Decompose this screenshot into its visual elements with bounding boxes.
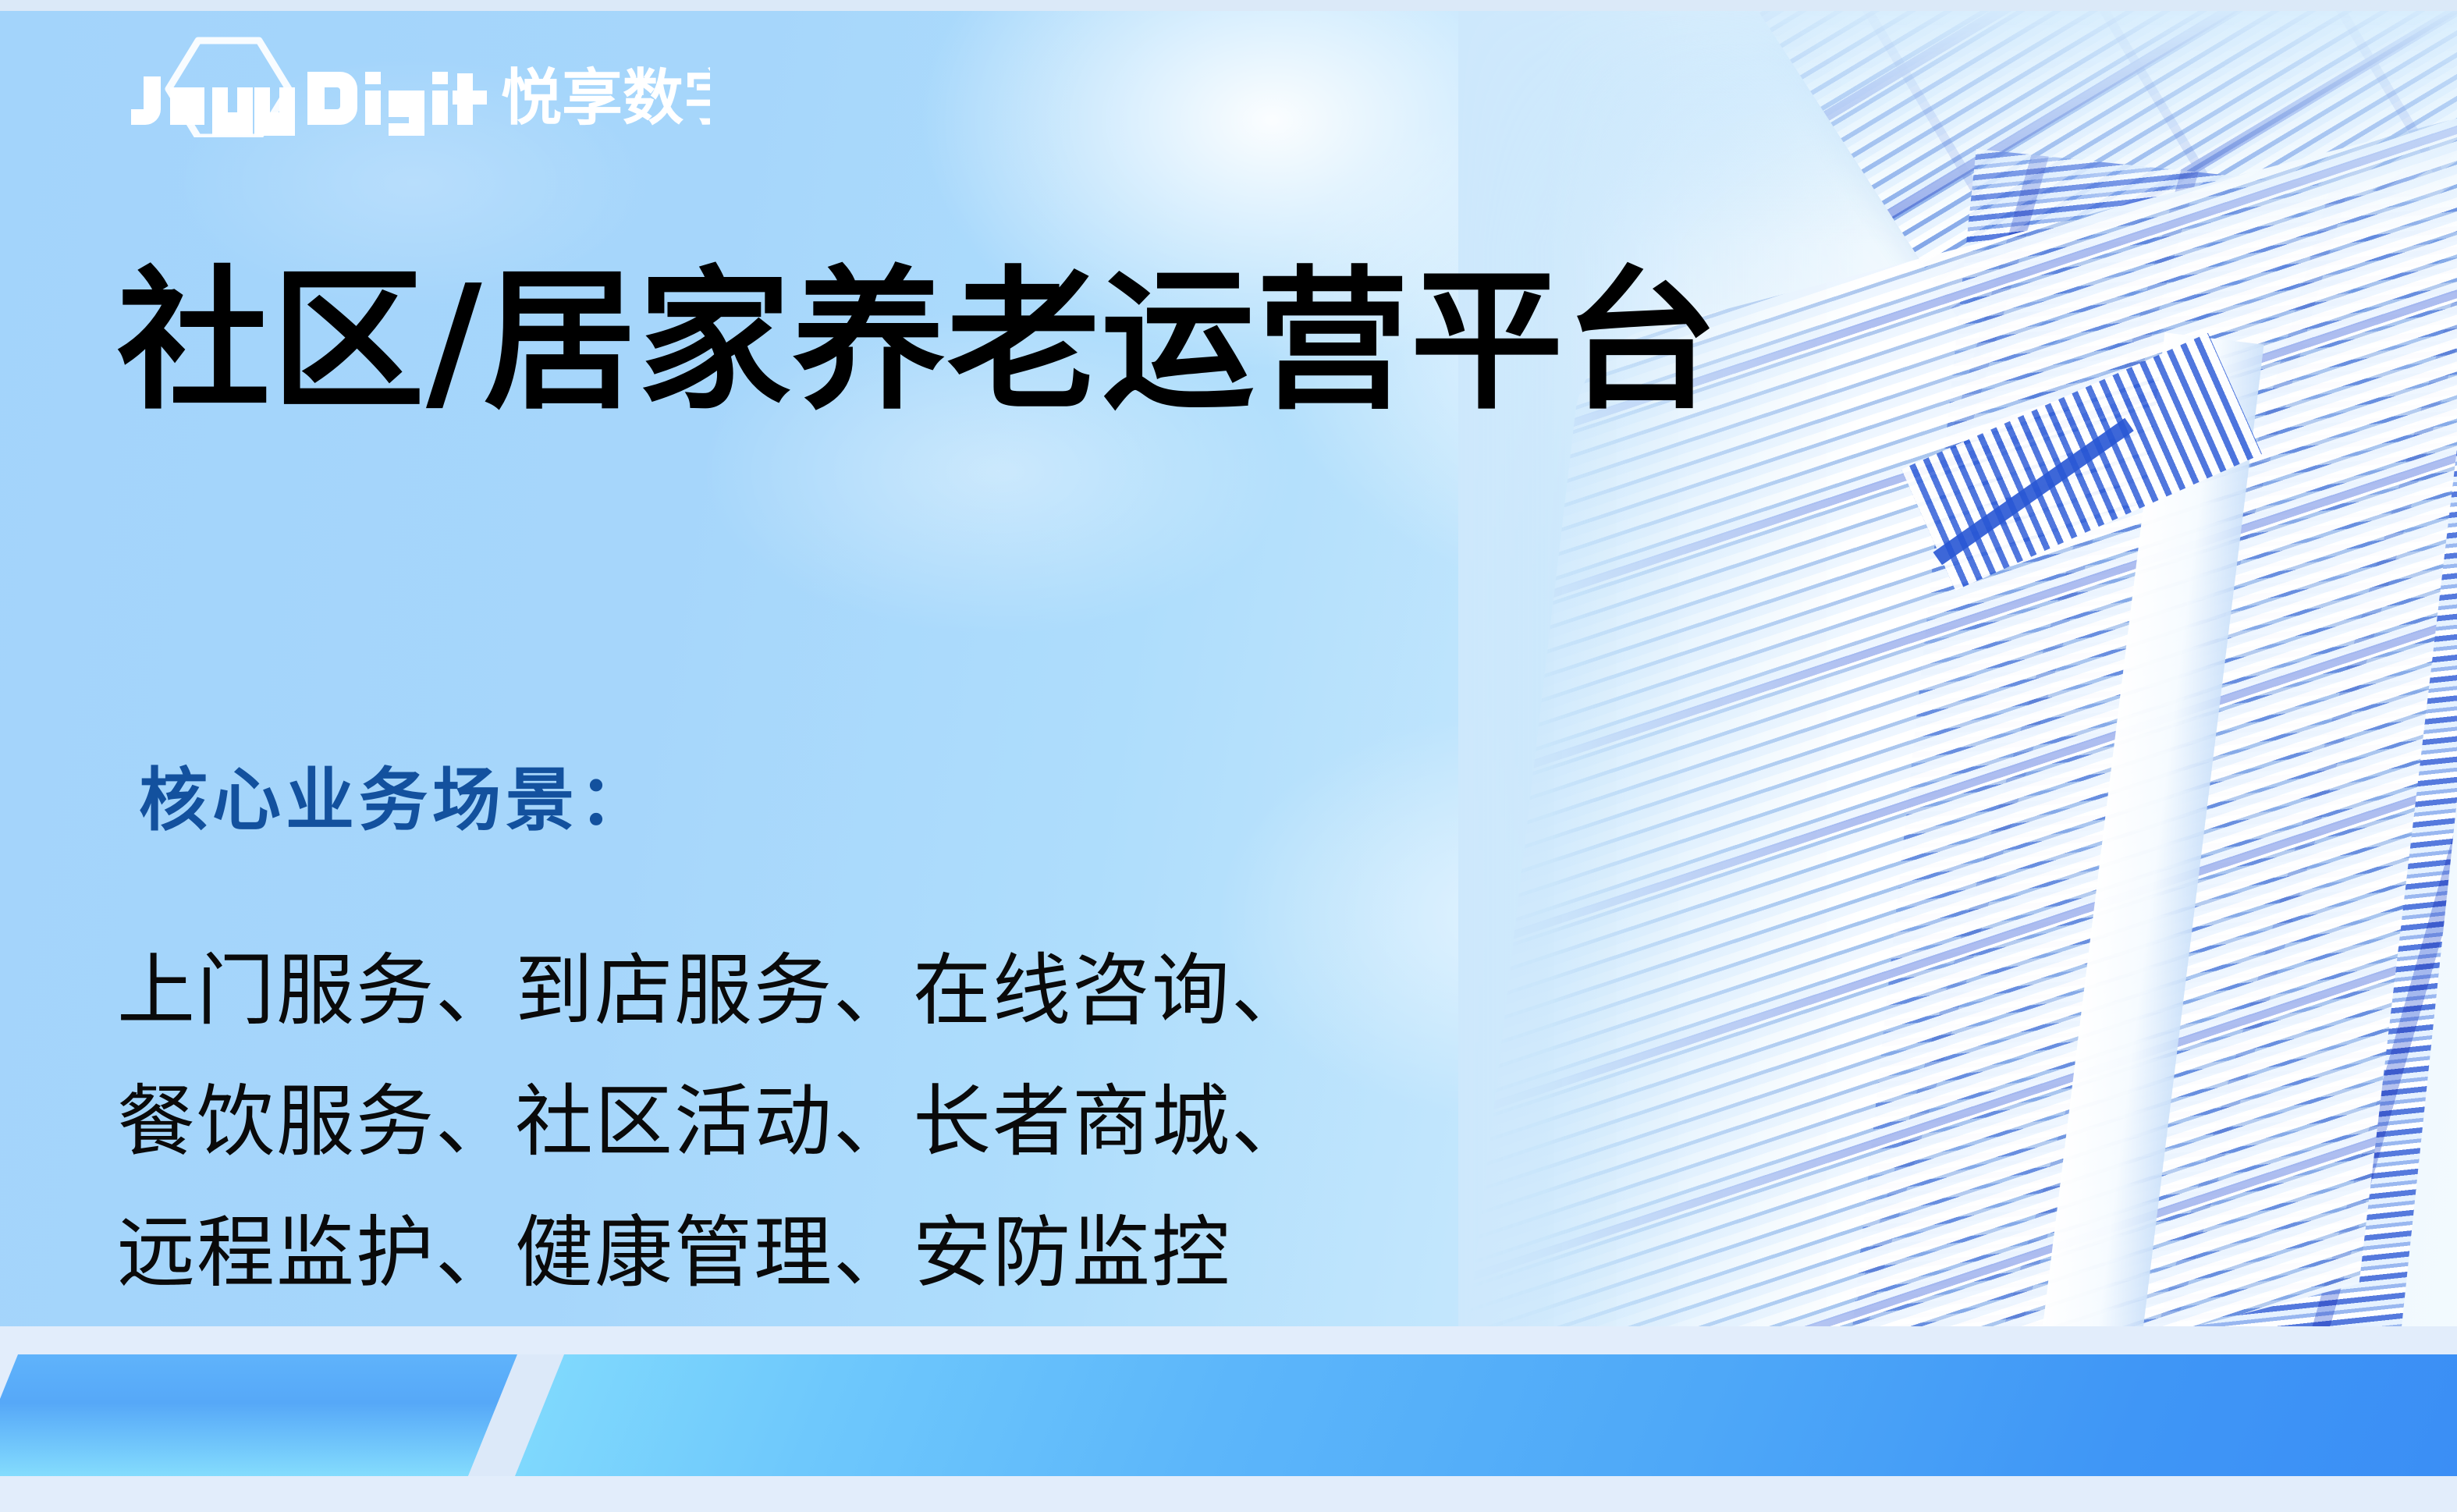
scenario-line: 上门服务、到店服务、在线咨询、 — [117, 925, 1311, 1056]
logo-wordmark-cn: 悦享数字 — [501, 63, 710, 133]
photo-left-fade — [1458, 11, 1864, 1389]
skyscraper-photo — [1458, 11, 2457, 1389]
scenario-line: 远程监护、健康管理、安防监控 — [117, 1187, 1311, 1319]
page-title: 社区/居家养老运营平台 — [117, 265, 1720, 418]
footer-decoration — [0, 1326, 2457, 1512]
footer-band-left — [0, 1354, 517, 1476]
brand-logo: 悦享数字 — [117, 28, 710, 137]
footer-band-main — [515, 1354, 2457, 1476]
section-heading: 核心业务场景： — [139, 766, 652, 835]
business-scenarios-list: 上门服务、到店服务、在线咨询、 餐饮服务、社区活动、长者商城、 远程监护、健康管… — [117, 925, 1311, 1319]
scenario-line: 餐饮服务、社区活动、长者商城、 — [117, 1056, 1311, 1187]
top-edge-strip — [0, 0, 2457, 11]
logo-wordmark-en — [131, 72, 487, 136]
slide-root: 悦享数字 社区/居家养老运营平台 核心业务场景： 上门服务、到店服务、在线咨询、… — [0, 0, 2457, 1512]
